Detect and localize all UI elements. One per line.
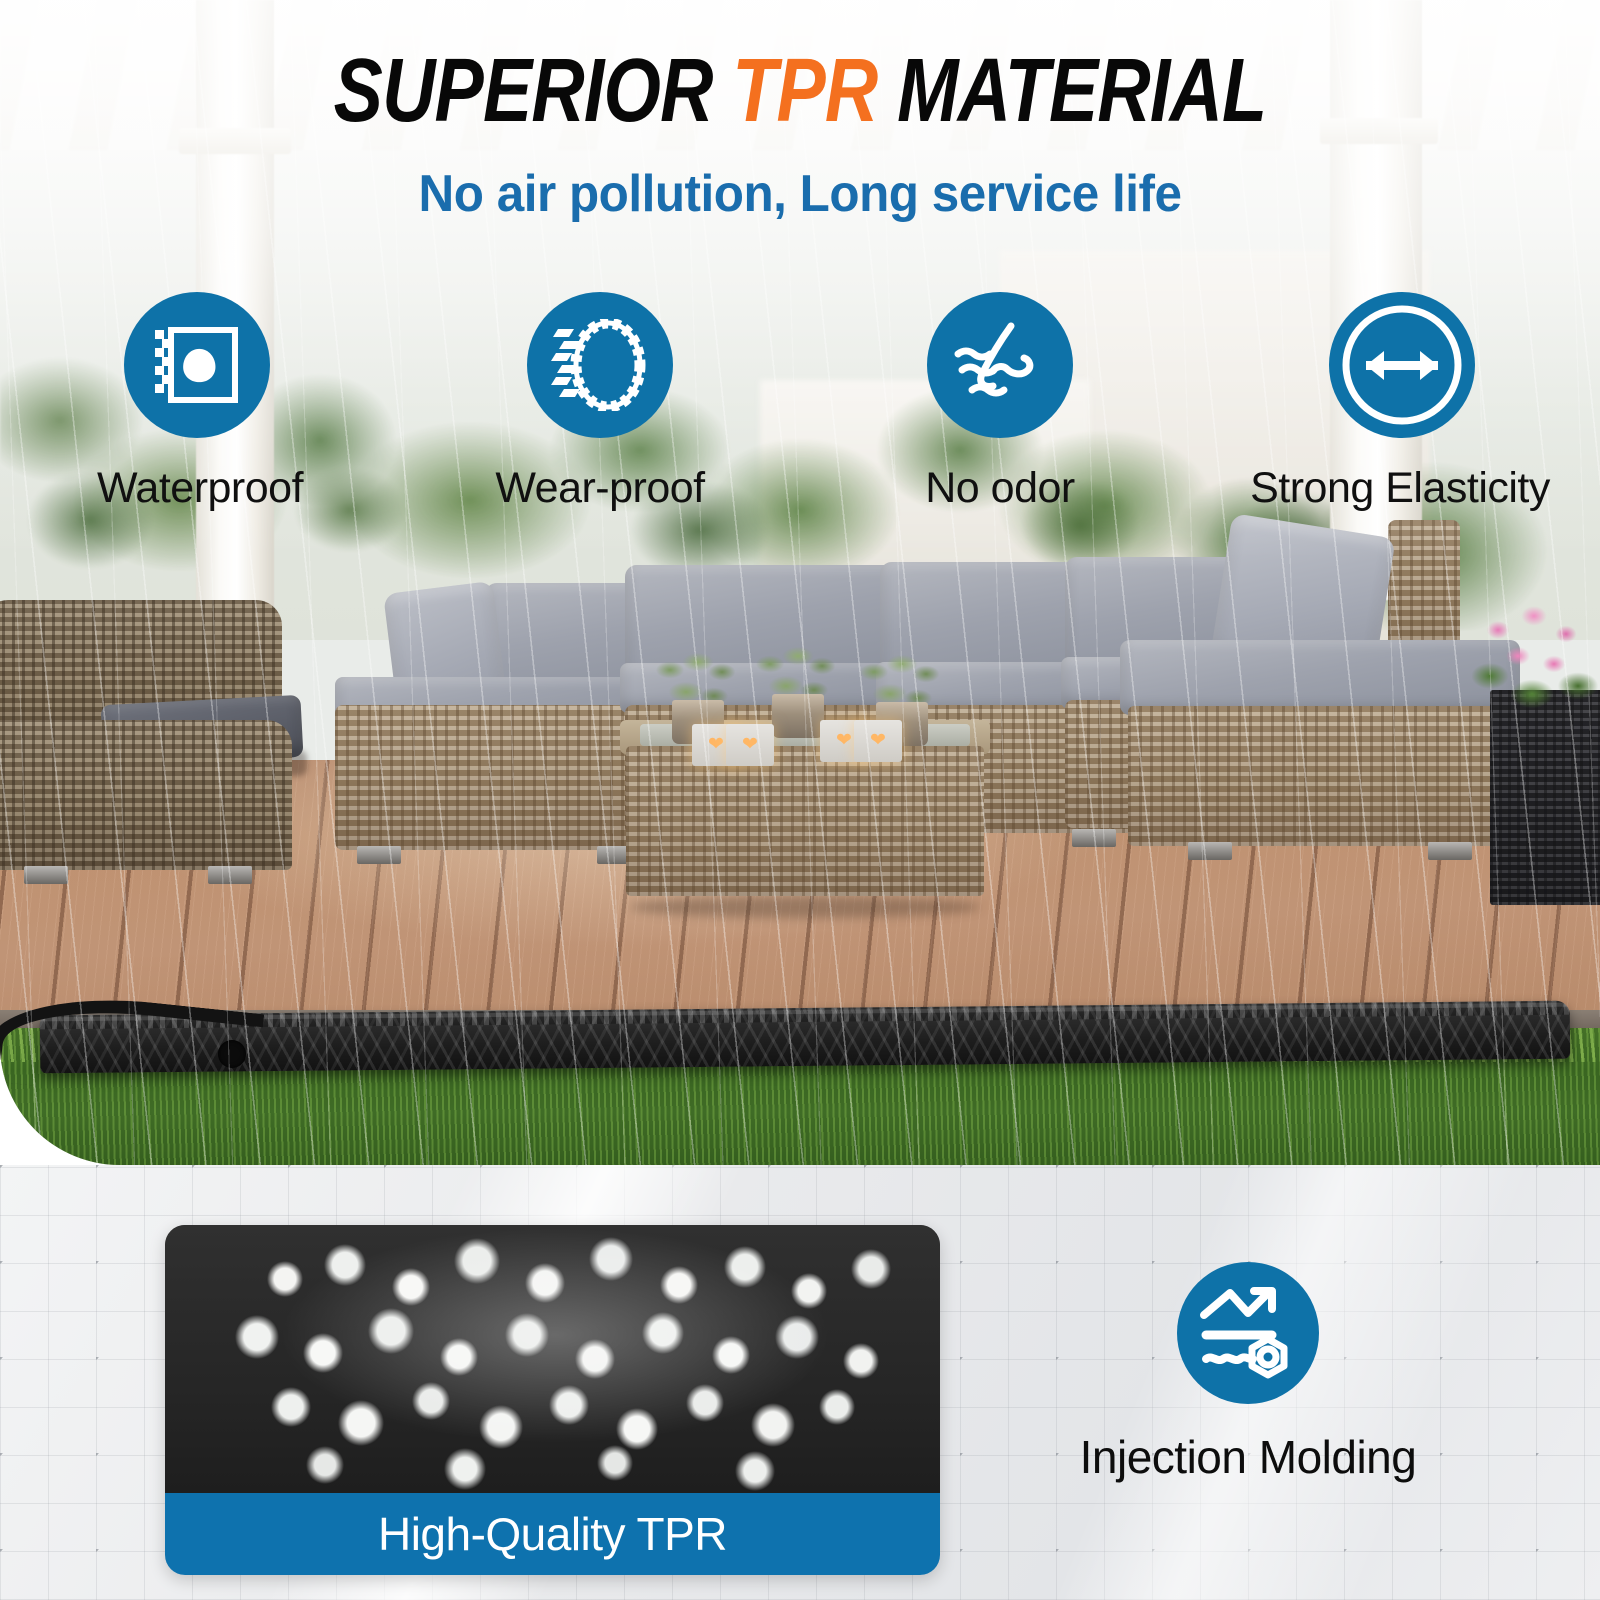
wicker-armchair	[0, 600, 312, 900]
furniture-foot	[208, 866, 252, 884]
tpr-pellets-photo	[165, 1225, 940, 1493]
chaise-wicker-base	[1128, 706, 1518, 846]
feature-no-odor: No odor	[800, 292, 1200, 513]
heart-icon: ❤	[705, 735, 727, 755]
heart-icon: ❤	[867, 731, 889, 751]
sofa-module-left	[335, 565, 665, 865]
feature-waterproof: Waterproof	[0, 292, 400, 513]
armchair-arm-base	[0, 720, 292, 870]
feature-label: Strong Elasticity	[1250, 464, 1550, 513]
furniture-foot	[357, 846, 401, 864]
furniture-foot	[1428, 842, 1472, 860]
table-wicker-body	[626, 746, 984, 896]
furniture-foot	[24, 866, 68, 884]
injection-molding-label: Injection Molding	[1080, 1430, 1417, 1484]
metal-plant-pot	[772, 694, 824, 738]
heart-candle-lantern: ❤	[726, 724, 774, 766]
pink-flowers	[1468, 590, 1600, 720]
heart-candle-lantern: ❤	[854, 720, 902, 762]
pellets-highlight	[165, 1225, 940, 1493]
heart-icon: ❤	[833, 731, 855, 751]
heart-icon: ❤	[739, 735, 761, 755]
nose-scent-waves-icon	[927, 292, 1073, 438]
sofa-wicker-base	[335, 705, 665, 850]
feature-label: Wear-proof	[495, 464, 704, 513]
feature-strong-elasticity: Strong Elasticity	[1200, 292, 1600, 513]
tire-tread-icon	[527, 292, 673, 438]
infographic-page: ❤ ❤ ❤ ❤	[0, 0, 1600, 1600]
feature-label: No odor	[925, 464, 1074, 513]
tpr-card-caption: High-Quality TPR	[165, 1493, 940, 1575]
page-subtitle: No air pollution, Long service life	[40, 168, 1560, 220]
wicker-coffee-table	[620, 720, 990, 920]
furniture-foot	[1188, 842, 1232, 860]
feature-label: Waterproof	[97, 464, 303, 513]
injection-molding-chart-nut-icon	[1177, 1262, 1319, 1404]
waterproof-fabric-droplet-icon	[124, 292, 270, 438]
feature-icon-row: Waterproof Wear-proof	[0, 292, 1600, 542]
dark-rattan-planter	[1490, 690, 1600, 905]
title-part-2: MATERIAL	[877, 41, 1266, 141]
feature-wear-proof: Wear-proof	[400, 292, 800, 513]
title-part-1: SUPERIOR	[334, 41, 733, 141]
table-shadow	[630, 896, 980, 918]
injection-molding-block: Injection Molding	[1048, 1262, 1448, 1484]
chaise-cushion	[1120, 640, 1520, 715]
title-highlight-tpr: TPR	[732, 41, 877, 141]
tpr-material-card: High-Quality TPR	[165, 1225, 940, 1575]
page-title: SUPERIOR TPR MATERIAL	[144, 46, 1456, 136]
chaise-ottoman	[1120, 640, 1520, 870]
horizontal-double-arrow-icon	[1329, 292, 1475, 438]
cable-entry-point	[218, 1040, 246, 1068]
